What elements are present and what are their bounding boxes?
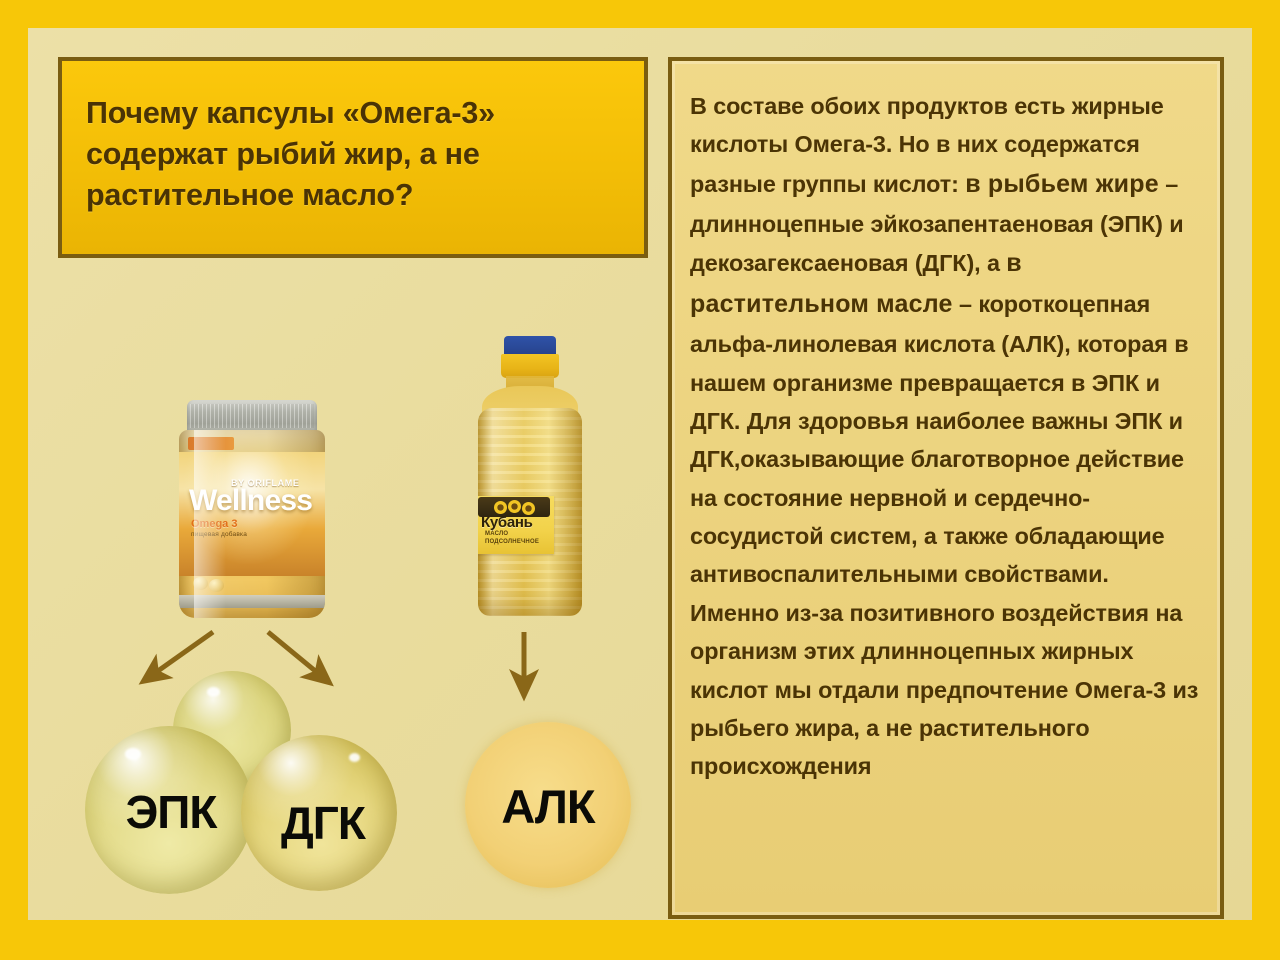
capsule-dgk-label: ДГК	[281, 796, 365, 850]
title-box: Почему капсулы «Омега-3» содержат рыбий …	[58, 57, 648, 258]
bottle-cap	[504, 336, 556, 356]
poster-board: Почему капсулы «Омега-3» содержат рыбий …	[28, 28, 1252, 920]
explanation-panel: В составе обоих продуктов есть жирные ки…	[668, 57, 1224, 919]
explanation-text: В составе обоих продуктов есть жирные ки…	[690, 87, 1202, 786]
circle-alk-label: АЛК	[501, 779, 594, 834]
circle-alk: АЛК	[465, 722, 631, 888]
infographic-poster: Почему капсулы «Омега-3» содержат рыбий …	[0, 0, 1280, 960]
bottle-label: Кубань МАСЛО ПОДСОЛНЕЧНОЕ	[478, 496, 554, 554]
bottle-brand-name: Кубань	[481, 514, 533, 531]
omega3-supplement-jar: BY ORIFLAME Wellness Omega 3 пищевая доб…	[173, 400, 331, 618]
jar-cap	[187, 400, 317, 434]
bottle-neck-ring	[501, 354, 559, 378]
capsule-epk-label: ЭПК	[126, 785, 217, 839]
jar-brand-name: Wellness	[189, 484, 312, 518]
jar-brand-tag	[188, 437, 234, 450]
bottle-body: Кубань МАСЛО ПОДСОЛНЕЧНОЕ	[478, 408, 582, 616]
jar-product-name: Omega 3	[191, 518, 237, 530]
lead-fish-oil: в рыбьем жире	[965, 170, 1159, 198]
capsule-dgk: ДГК	[241, 735, 397, 891]
jar-body: BY ORIFLAME Wellness Omega 3 пищевая доб…	[179, 430, 325, 618]
arrow-jar-to-dgk	[268, 632, 325, 679]
page-title: Почему капсулы «Омега-3» содержат рыбий …	[86, 93, 622, 216]
sunflower-oil-bottle: Кубань МАСЛО ПОДСОЛНЕЧНОЕ	[468, 336, 590, 618]
bottle-descriptor: МАСЛО ПОДСОЛНЕЧНОЕ	[485, 531, 554, 546]
jar-bottom-stripe	[179, 595, 325, 608]
capsule-epk: ЭПК	[85, 726, 253, 894]
softgel-capsules-icon	[193, 577, 227, 592]
arrow-jar-to-epk	[148, 632, 213, 678]
jar-subtitle: пищевая добавка	[191, 531, 247, 538]
paragraph-vegetable-oil: – короткоцепная альфа-линолевая кислота …	[690, 291, 1198, 779]
